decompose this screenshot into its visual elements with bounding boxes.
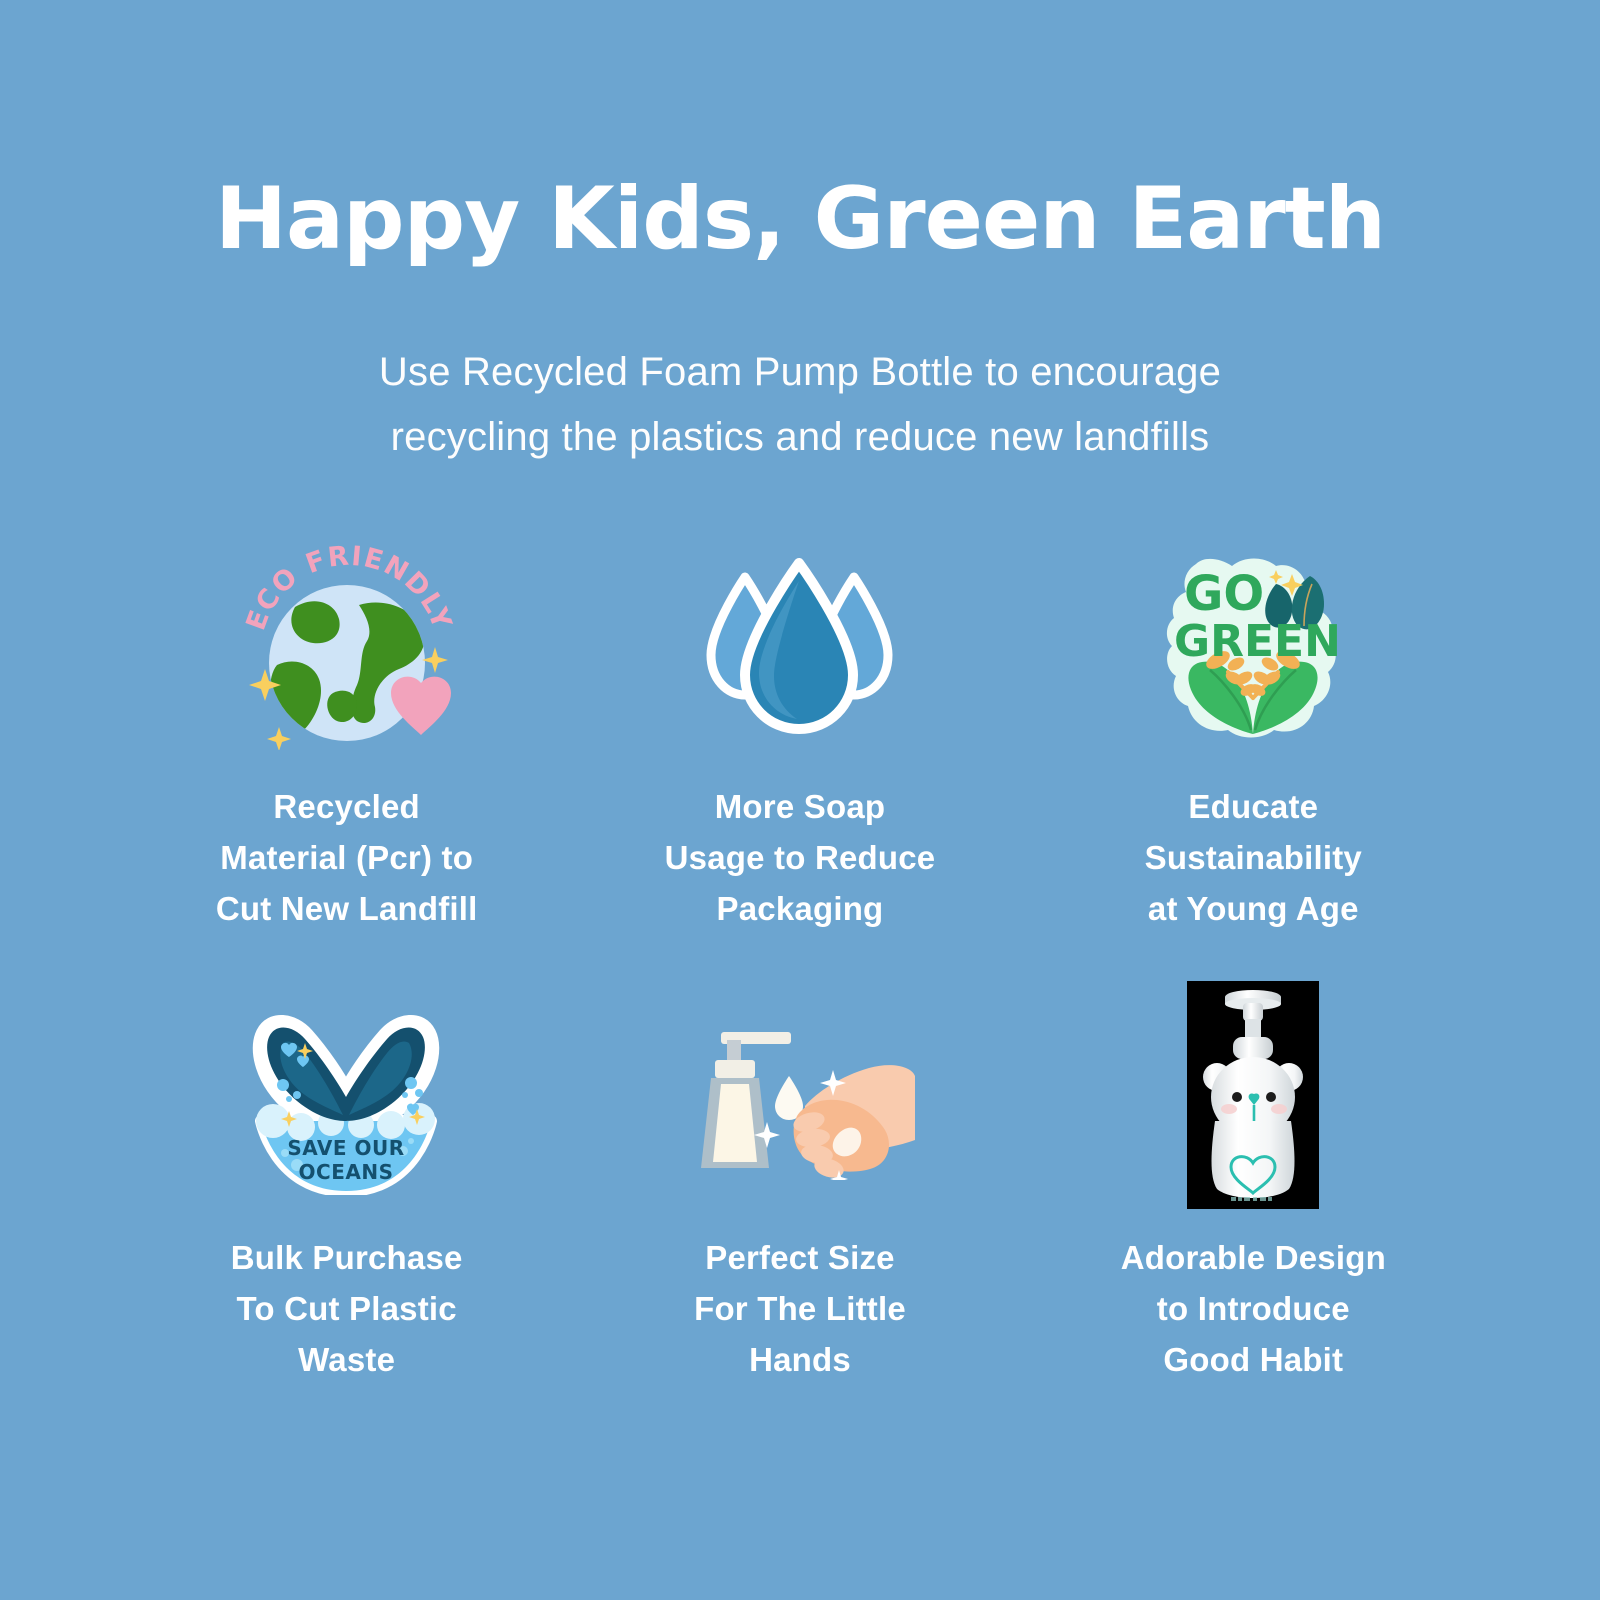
feature-caption: More Soap Usage to Reduce Packaging <box>665 781 936 934</box>
bear-eye-right <box>1266 1092 1276 1102</box>
go-label: GO <box>1184 566 1264 622</box>
feature-item-perfect-size: Perfect Size For The Little Hands <box>573 980 1026 1420</box>
water-droplets-icon <box>685 540 915 755</box>
feature-item-recycled-material: ECO FRIENDLY Recycled Material (Pcr) to … <box>120 540 573 980</box>
bear-cheek-right <box>1271 1104 1287 1114</box>
bear-cheek-left <box>1221 1104 1237 1114</box>
save-our-oceans-svg: SAVE OUR OCEANS <box>239 995 454 1195</box>
eco-friendly-earth-svg: ECO FRIENDLY <box>239 545 454 750</box>
bear-pump-bottle-photo <box>1138 980 1368 1210</box>
feature-item-more-soap: More Soap Usage to Reduce Packaging <box>573 540 1026 980</box>
bear-bottle-svg <box>1187 981 1319 1209</box>
feature-caption: Perfect Size For The Little Hands <box>694 1232 906 1385</box>
oceans-label: OCEANS <box>299 1160 394 1184</box>
heart-shape <box>391 677 451 735</box>
feature-caption: Recycled Material (Pcr) to Cut New Landf… <box>216 781 478 934</box>
feature-item-adorable-design: Adorable Design to Introduce Good Habit <box>1027 980 1480 1420</box>
feature-grid: ECO FRIENDLY Recycled Material (Pcr) to … <box>0 540 1600 1420</box>
eco-friendly-earth-icon: ECO FRIENDLY <box>232 540 462 755</box>
infographic-page: Happy Kids, Green Earth Use Recycled Foa… <box>0 0 1600 1600</box>
save-our-label: SAVE OUR <box>288 1136 405 1160</box>
soap-droplet <box>775 1076 803 1120</box>
page-title: Happy Kids, Green Earth <box>0 176 1600 262</box>
bear-eye-left <box>1232 1092 1242 1102</box>
feature-caption: Adorable Design to Introduce Good Habit <box>1121 1232 1386 1385</box>
page-subtitle: Use Recycled Foam Pump Bottle to encoura… <box>0 262 1600 470</box>
go-green-sticker-svg: GO GREEN <box>1158 548 1348 748</box>
save-our-oceans-whale-tail-icon: SAVE OUR OCEANS <box>232 980 462 1210</box>
feature-item-educate-sustainability: GO GREEN Educate Sustainability at Young… <box>1027 540 1480 980</box>
feature-caption: Bulk Purchase To Cut Plastic Waste <box>231 1232 463 1385</box>
droplet-center <box>745 563 853 729</box>
pump-collar <box>1233 1037 1273 1059</box>
subtitle-line-2: recycling the plastics and reduce new la… <box>391 415 1210 459</box>
soap-dispenser-hands-svg <box>685 1010 915 1180</box>
pump-neck <box>1243 1003 1263 1021</box>
feature-caption: Educate Sustainability at Young Age <box>1145 781 1362 934</box>
green-label: GREEN <box>1174 616 1341 667</box>
subtitle-line-1: Use Recycled Foam Pump Bottle to encoura… <box>379 350 1221 394</box>
feature-item-bulk-purchase: SAVE OUR OCEANS Bulk Purchase To Cut Pla… <box>120 980 573 1420</box>
soap-dispenser-washing-hands-icon <box>685 980 915 1210</box>
go-green-sticker-icon: GO GREEN <box>1138 540 1368 755</box>
water-droplets-svg <box>697 555 902 740</box>
bear-body <box>1212 1121 1295 1198</box>
pump-head <box>715 1060 755 1078</box>
header: Happy Kids, Green Earth Use Recycled Foa… <box>0 0 1600 470</box>
